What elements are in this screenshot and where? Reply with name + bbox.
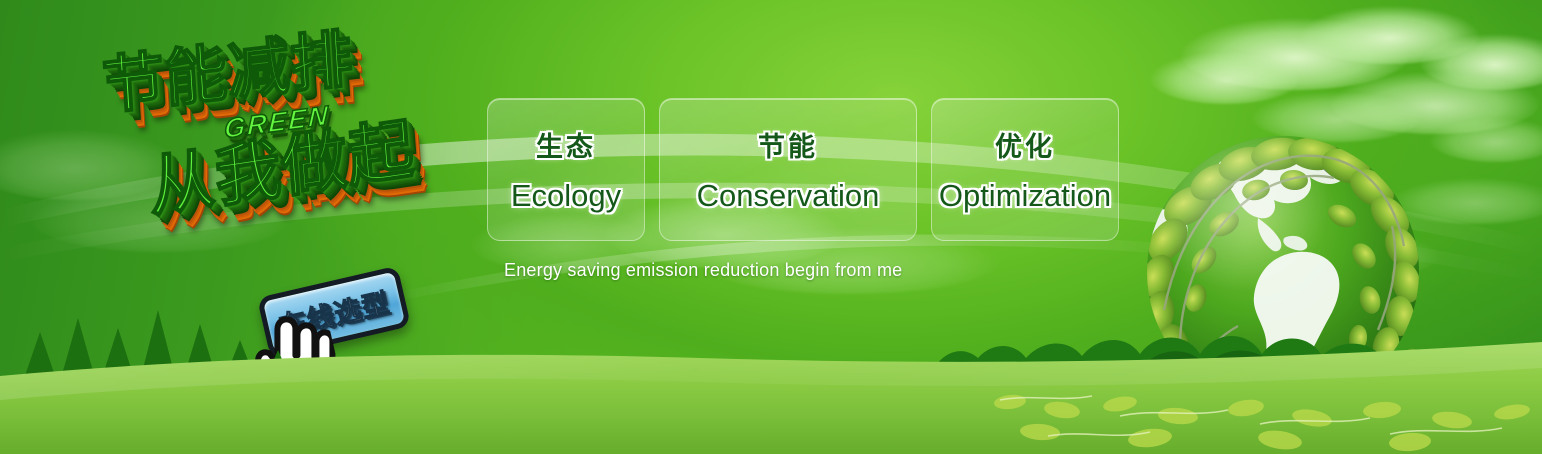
feature-card-title-cn: 生态 bbox=[536, 125, 596, 164]
eco-banner: 节能减排 GREEN 从我做起 在线选型 生态 Ecology 节能 Conse… bbox=[0, 0, 1542, 454]
feature-card-title-cn: 优化 bbox=[995, 125, 1055, 164]
feature-card-list: 生态 Ecology 节能 Conservation 优化 Optimizati… bbox=[487, 98, 1119, 241]
feature-card-optimization[interactable]: 优化 Optimization bbox=[931, 98, 1119, 241]
feature-card-title-cn: 节能 bbox=[758, 125, 818, 164]
feature-card-conservation[interactable]: 节能 Conservation bbox=[659, 98, 917, 241]
feature-card-title-en: Ecology bbox=[511, 178, 621, 214]
headline-line-2: 从我做起 bbox=[146, 115, 416, 221]
feature-card-ecology[interactable]: 生态 Ecology bbox=[487, 98, 645, 241]
globe-shadow bbox=[1122, 390, 1446, 436]
headline-3d-text: 节能减排 GREEN 从我做起 bbox=[86, 23, 499, 298]
feature-card-title-en: Optimization bbox=[939, 178, 1111, 214]
tagline-text: Energy saving emission reduction begin f… bbox=[504, 260, 902, 281]
feature-card-title-en: Conservation bbox=[697, 178, 880, 214]
leafy-globe-image bbox=[1128, 120, 1438, 430]
